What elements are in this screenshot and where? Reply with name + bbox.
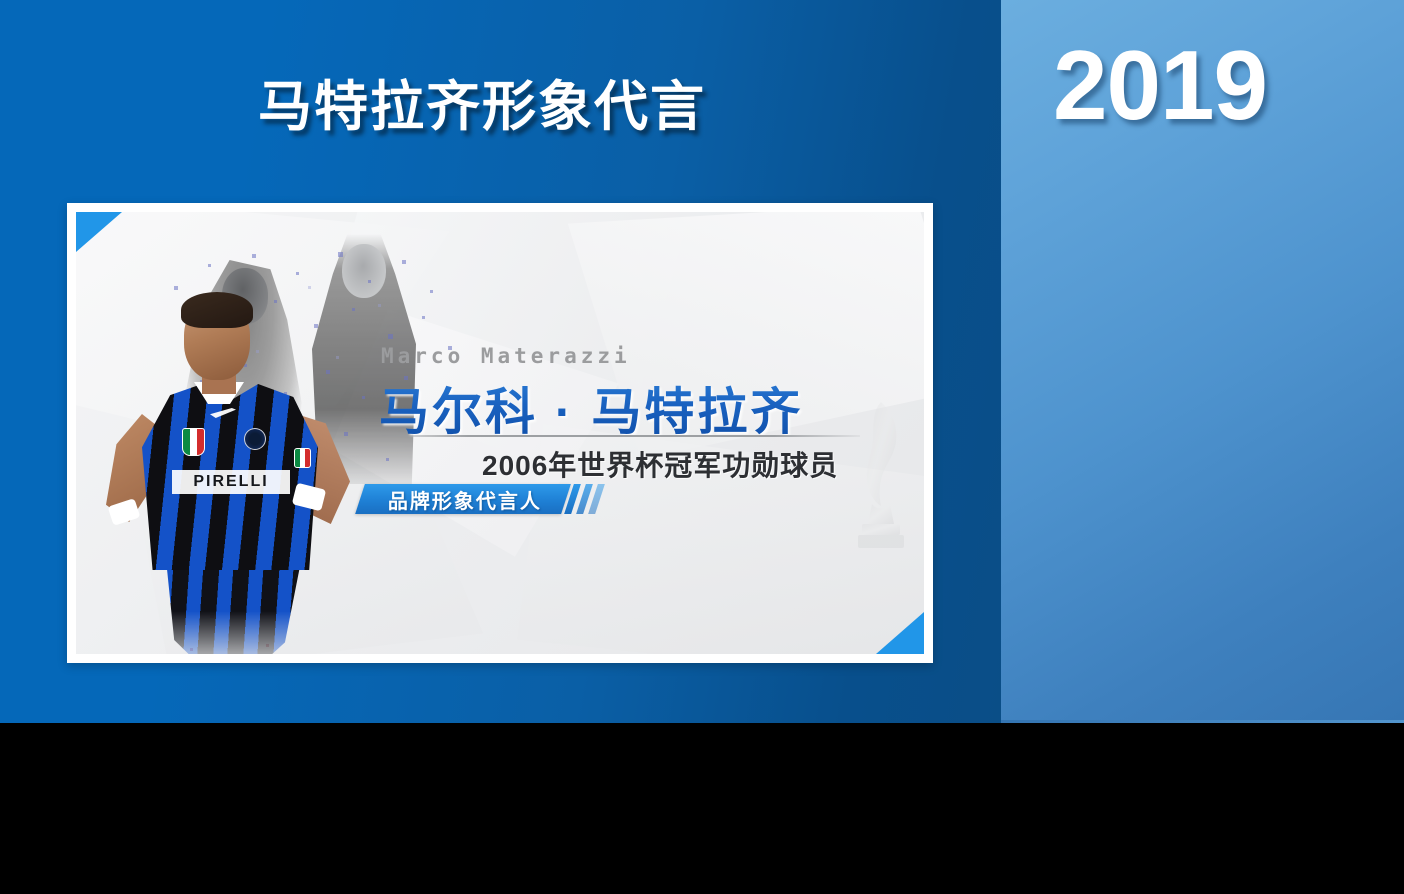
player-chinese-name: 马尔科 · 马特拉齐 bbox=[379, 372, 803, 444]
slide-canvas: 2019 马特拉齐形象代言 bbox=[0, 0, 1404, 723]
player-hair bbox=[181, 292, 253, 328]
scudetto-badge-icon bbox=[182, 428, 205, 456]
right-blue-panel: 2019 bbox=[1001, 0, 1404, 723]
sleeve-badge-icon bbox=[294, 448, 311, 468]
player-english-name: Marco Materazzi bbox=[381, 344, 631, 368]
jersey-sponsor-text: PIRELLI bbox=[172, 470, 290, 494]
corner-accent-top-left-icon bbox=[76, 212, 122, 252]
badge-label: 品牌形象代言人 bbox=[388, 485, 542, 514]
status-badge: 品牌形象代言人 bbox=[360, 484, 605, 514]
page-title: 马特拉齐形象代言 bbox=[258, 62, 706, 141]
text-divider bbox=[382, 435, 860, 437]
badge-stripes-decoration bbox=[569, 484, 605, 514]
world-cup-trophy-icon bbox=[848, 398, 914, 558]
badge-tag: 品牌形象代言人 bbox=[355, 484, 571, 514]
corner-accent-bottom-right-icon bbox=[876, 612, 924, 654]
player-legs bbox=[160, 556, 302, 654]
banner-card-frame: PIRELLI Marco Materazzi 马尔科 · 马特拉齐 2006年… bbox=[67, 203, 933, 663]
player-subtitle: 2006年世界杯冠军功勋球员 bbox=[482, 444, 838, 484]
year-label: 2019 bbox=[1053, 36, 1267, 134]
letterbox-area bbox=[0, 723, 1404, 894]
club-crest-icon bbox=[244, 428, 266, 450]
player-photo: PIRELLI bbox=[98, 290, 398, 654]
banner-card: PIRELLI Marco Materazzi 马尔科 · 马特拉齐 2006年… bbox=[76, 212, 924, 654]
